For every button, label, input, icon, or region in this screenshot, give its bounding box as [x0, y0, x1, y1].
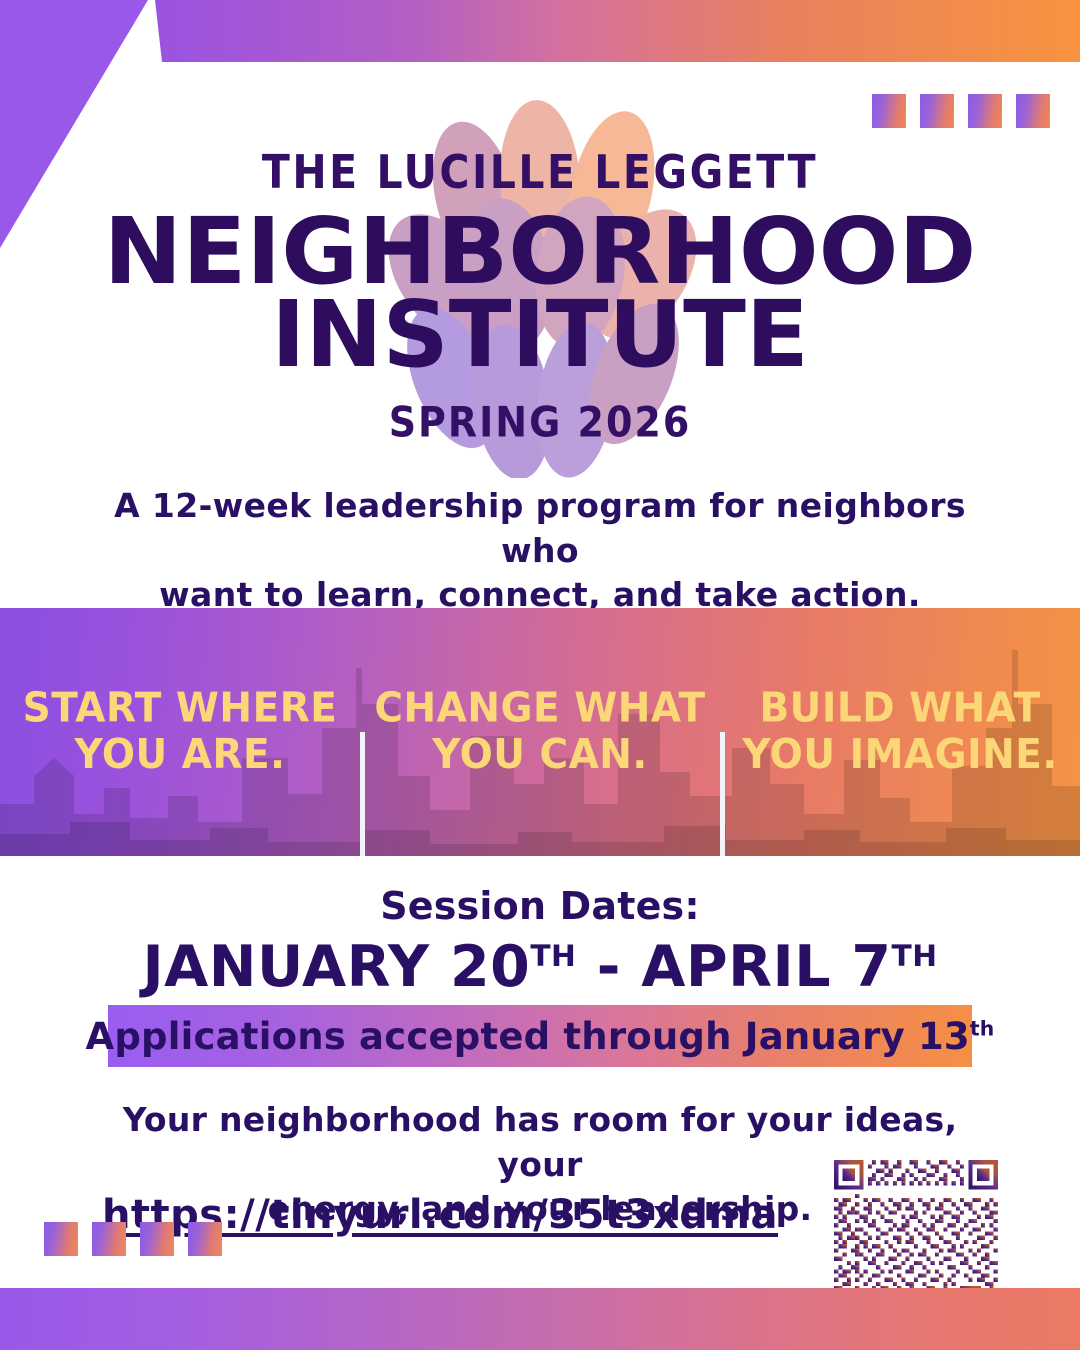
- gradient-square-icon: [920, 94, 954, 128]
- tagline-divider: [360, 732, 365, 856]
- gradient-square-icon: [968, 94, 1002, 128]
- session-dates-start-ordinal: TH: [530, 938, 576, 973]
- session-dates-start: JANUARY 20: [142, 934, 530, 1000]
- applications-deadline-ordinal: th: [970, 1016, 995, 1040]
- program-description-line1: A 12-week leadership program for neighbo…: [90, 484, 990, 573]
- eyebrow-text: THE LUCILLE LEGGETT: [0, 150, 1080, 196]
- tagline-row: START WHERE YOU ARE. CHANGE WHAT YOU CAN…: [0, 608, 1080, 856]
- skyline-banner: START WHERE YOU ARE. CHANGE WHAT YOU CAN…: [0, 608, 1080, 856]
- decorative-squares-bottom-left: [44, 1222, 222, 1256]
- tagline-3: BUILD WHAT YOU IMAGINE.: [720, 688, 1080, 775]
- gradient-square-icon: [872, 94, 906, 128]
- tagline-divider: [720, 732, 725, 856]
- gradient-square-icon: [1016, 94, 1050, 128]
- session-dates-label: Session Dates:: [0, 884, 1080, 928]
- top-gradient-band: [0, 0, 1080, 62]
- tagline-2-line1: CHANGE WHAT: [374, 686, 705, 732]
- gradient-square-icon: [188, 1222, 222, 1256]
- decorative-squares-top-right: [872, 94, 1050, 128]
- program-description: A 12-week leadership program for neighbo…: [90, 484, 990, 618]
- gradient-square-icon: [92, 1222, 126, 1256]
- applications-deadline-bar: Applications accepted through January 13…: [108, 1005, 972, 1067]
- flyer-canvas: THE LUCILLE LEGGETT NEIGHBORHOOD INSTITU…: [0, 0, 1080, 1350]
- tagline-1-line1: START WHERE: [23, 686, 338, 732]
- tagline-1-line2: YOU ARE.: [23, 732, 338, 778]
- season-text: SPRING 2026: [0, 397, 1080, 445]
- gradient-square-icon: [44, 1222, 78, 1256]
- tagline-1: START WHERE YOU ARE.: [0, 688, 360, 775]
- session-dates-separator: - APRIL 7: [576, 934, 891, 1000]
- bottom-gradient-band: [0, 1288, 1080, 1350]
- session-dates-value: JANUARY 20TH - APRIL 7TH: [0, 934, 1080, 1000]
- tagline-3-line1: BUILD WHAT: [742, 686, 1057, 732]
- headline-block: THE LUCILLE LEGGETT NEIGHBORHOOD INSTITU…: [0, 150, 1080, 444]
- applications-deadline-text: Applications accepted through January 13…: [86, 1015, 995, 1058]
- tagline-2-line2: YOU CAN.: [374, 732, 705, 778]
- page-title-line1: NEIGHBORHOOD: [0, 213, 1080, 290]
- gradient-square-icon: [140, 1222, 174, 1256]
- applications-deadline-main: Applications accepted through January 13: [86, 1015, 970, 1058]
- page-title-line2: INSTITUTE: [0, 296, 1080, 373]
- tagline-3-line2: YOU IMAGINE.: [742, 732, 1057, 778]
- session-dates-end-ordinal: TH: [892, 938, 938, 973]
- tagline-2: CHANGE WHAT YOU CAN.: [360, 688, 720, 775]
